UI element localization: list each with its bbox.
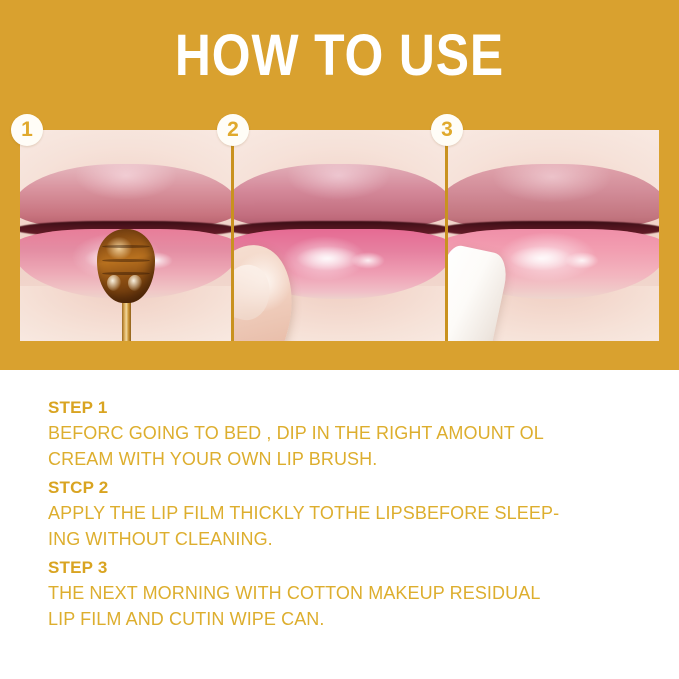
photo-panel-step-3 — [445, 130, 659, 341]
step-3-heading: STEP 3 — [48, 556, 648, 580]
step-2-line-1: APPLY THE LIP FILM THICKLY TOTHE LIPSBEF… — [48, 500, 648, 526]
lips-photo-2 — [232, 130, 445, 341]
instructions-block: STEP 1 BEFORC GOING TO BED , DIP IN THE … — [48, 396, 648, 636]
applicator-highlight — [128, 275, 142, 291]
step-badge-1: 1 — [11, 114, 43, 146]
step-2-body: APPLY THE LIP FILM THICKLY TOTHE LIPSBEF… — [48, 500, 648, 552]
applicator-groove — [102, 272, 151, 275]
step-3-body: THE NEXT MORNING WITH COTTON MAKEUP RESI… — [48, 580, 648, 632]
instruction-step-2: STCP 2 APPLY THE LIP FILM THICKLY TOTHE … — [48, 476, 648, 552]
step-3-line-1: THE NEXT MORNING WITH COTTON MAKEUP RESI… — [48, 580, 648, 606]
upper-lip — [445, 164, 659, 229]
photo-panel-step-2 — [232, 130, 445, 341]
step-badge-3: 3 — [431, 114, 463, 146]
step-2-line-2: ING WITHOUT CLEANING. — [48, 526, 648, 552]
instruction-step-3: STEP 3 THE NEXT MORNING WITH COTTON MAKE… — [48, 556, 648, 632]
page-title: HOW TO USE — [48, 26, 632, 86]
instruction-step-1: STEP 1 BEFORC GOING TO BED , DIP IN THE … — [48, 396, 648, 472]
photo-panel-step-1 — [20, 130, 232, 341]
upper-lip — [232, 164, 445, 229]
panel-divider-2 — [445, 130, 448, 341]
applicator-groove — [102, 245, 151, 248]
honey-dipper-applicator-icon — [97, 229, 155, 303]
step-1-heading: STEP 1 — [48, 396, 648, 420]
applicator-groove — [102, 259, 151, 262]
step-1-body: BEFORC GOING TO BED , DIP IN THE RIGHT A… — [48, 420, 648, 472]
lips-photo-3 — [445, 130, 659, 341]
photo-strip — [20, 130, 659, 341]
how-to-use-infographic: HOW TO USE — [0, 0, 679, 679]
step-3-line-2: LIP FILM AND CUTIN WIPE CAN. — [48, 606, 648, 632]
step-1-line-2: CREAM WITH YOUR OWN LIP BRUSH. — [48, 446, 648, 472]
applicator-highlight — [107, 275, 121, 291]
panel-divider-1 — [231, 130, 234, 341]
step-2-heading: STCP 2 — [48, 476, 648, 500]
upper-lip — [20, 164, 232, 229]
step-badge-2: 2 — [217, 114, 249, 146]
lips-photo-1 — [20, 130, 232, 341]
step-1-line-1: BEFORC GOING TO BED , DIP IN THE RIGHT A… — [48, 420, 648, 446]
fingernail — [232, 259, 277, 325]
